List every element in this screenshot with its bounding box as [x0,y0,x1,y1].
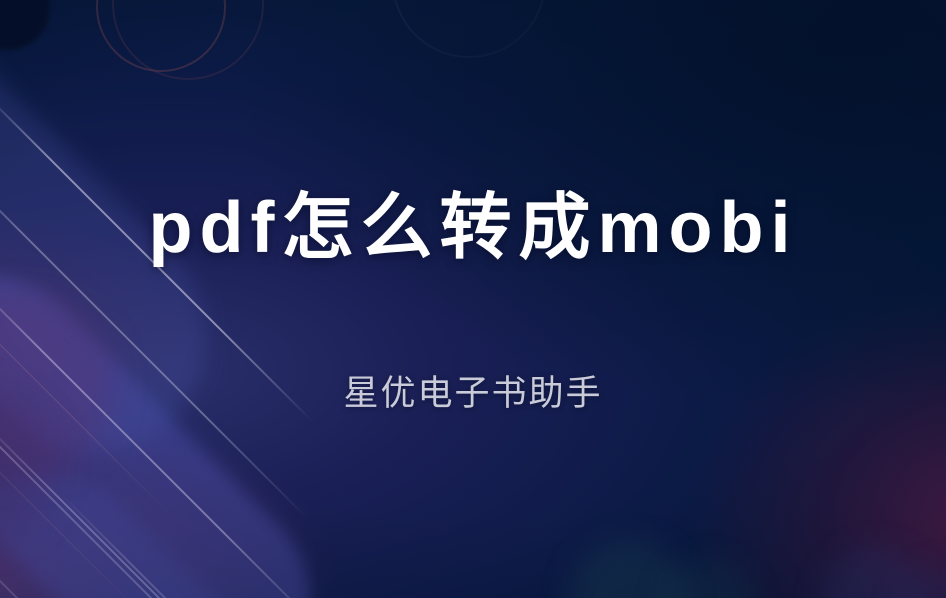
text-stack: pdf怎么转成mobi 星优电子书助手 [0,0,946,598]
slide-cover: pdf怎么转成mobi 星优电子书助手 [0,0,946,598]
slide-title: pdf怎么转成mobi [0,192,946,264]
slide-subtitle: 星优电子书助手 [0,375,946,414]
